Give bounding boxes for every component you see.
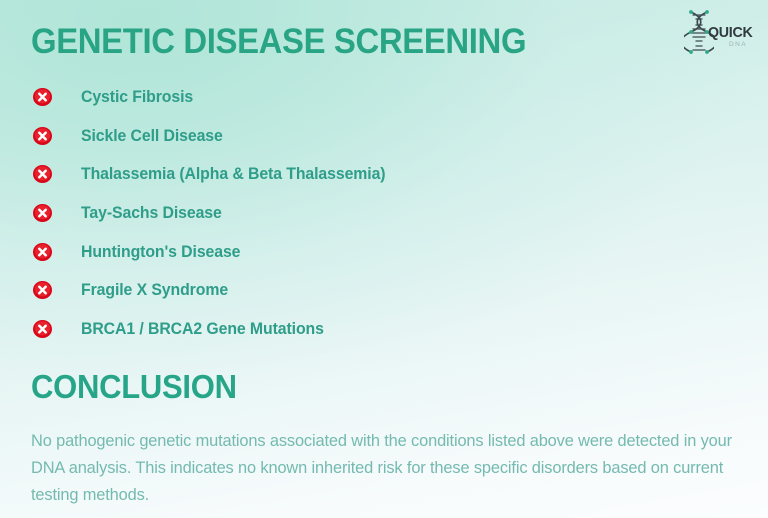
condition-label: Thalassemia (Alpha & Beta Thalassemia) — [81, 164, 385, 184]
red-x-circle-icon — [33, 320, 52, 338]
red-x-circle-icon — [33, 281, 52, 299]
conclusion-section: CONCLUSION No pathogenic genetic mutatio… — [31, 368, 737, 508]
brand-logo: QUICK DNA — [684, 10, 758, 58]
list-item: Sickle Cell Disease — [0, 117, 768, 156]
condition-label: Huntington's Disease — [81, 242, 240, 262]
list-item: Tay-Sachs Disease — [0, 194, 768, 233]
page-title: GENETIC DISEASE SCREENING — [31, 22, 526, 62]
brand-subtitle: DNA — [729, 41, 747, 48]
screened-conditions-list: Cystic Fibrosis Sickle Cell Disease Th — [0, 78, 768, 348]
condition-label: Sickle Cell Disease — [81, 126, 223, 146]
condition-label: Cystic Fibrosis — [81, 87, 193, 107]
red-x-circle-icon — [33, 165, 52, 183]
report-header: GENETIC DISEASE SCREENING — [0, 0, 768, 76]
list-item: Fragile X Syndrome — [0, 271, 768, 310]
red-x-circle-icon — [33, 243, 52, 261]
list-item: Cystic Fibrosis — [0, 78, 768, 117]
list-item: Huntington's Disease — [0, 232, 768, 271]
red-x-circle-icon — [33, 88, 52, 106]
condition-label: Fragile X Syndrome — [81, 280, 228, 300]
conclusion-heading: CONCLUSION — [31, 368, 695, 406]
list-item: Thalassemia (Alpha & Beta Thalassemia) — [0, 155, 768, 194]
list-item: BRCA1 / BRCA2 Gene Mutations — [0, 310, 768, 349]
red-x-circle-icon — [33, 204, 52, 222]
conclusion-body-text: No pathogenic genetic mutations associat… — [31, 427, 741, 508]
condition-label: Tay-Sachs Disease — [81, 203, 222, 223]
genetic-screening-report-page: GENETIC DISEASE SCREENING — [0, 0, 768, 518]
brand-name: QUICK — [708, 24, 753, 41]
condition-label: BRCA1 / BRCA2 Gene Mutations — [81, 319, 324, 339]
red-x-circle-icon — [33, 127, 52, 145]
